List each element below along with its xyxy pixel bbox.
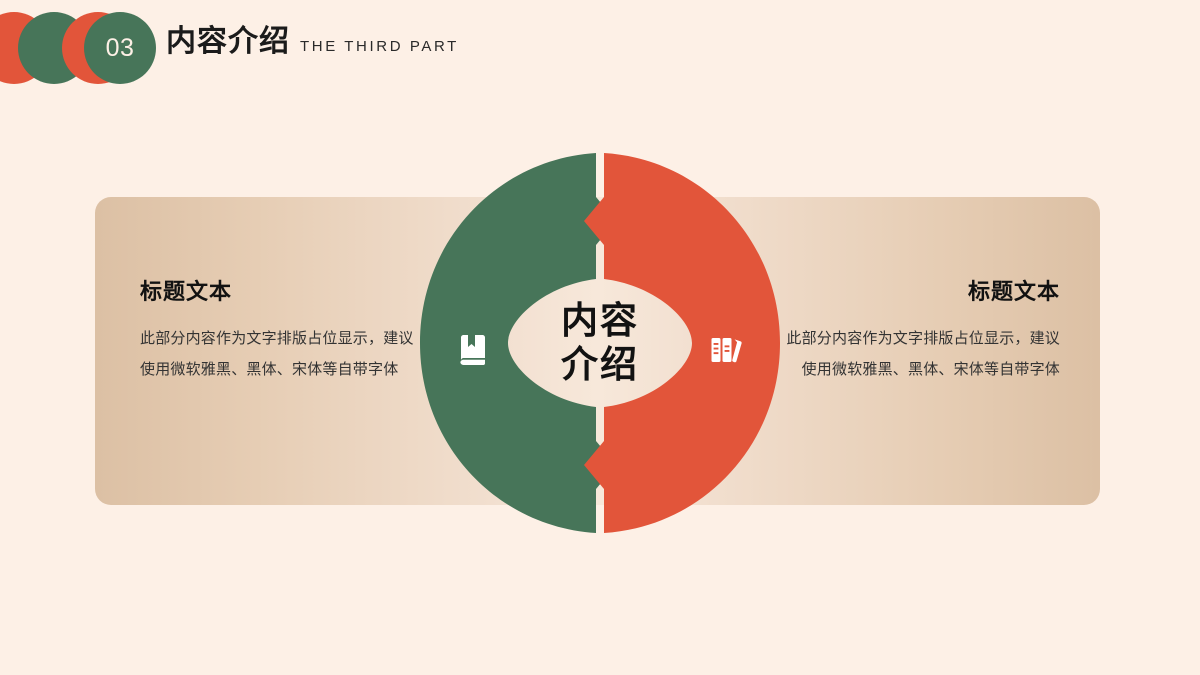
- book-stack-icon-svg: [705, 330, 745, 370]
- page-title: 内容介绍: [166, 27, 290, 57]
- block-title-right: 标题文本: [782, 281, 1060, 303]
- block-title-left: 标题文本: [140, 281, 418, 303]
- book-stack-icon: [702, 327, 748, 373]
- ring-right-orange[interactable]: [584, 153, 780, 533]
- text-block-right: 标题文本 此部分内容作为文字排版占位显示，建议使用微软雅黑、黑体、宋体等自带字体: [782, 281, 1060, 385]
- bookmark-book-icon-svg: [453, 330, 493, 370]
- header-title-group: 内容介绍 THE THIRD PART: [166, 27, 459, 57]
- block-body-left: 此部分内容作为文字排版占位显示，建议使用微软雅黑、黑体、宋体等自带字体: [140, 323, 418, 385]
- slide-header: 03 内容介绍 THE THIRD PART: [0, 0, 1200, 100]
- text-block-left: 标题文本 此部分内容作为文字排版占位显示，建议使用微软雅黑、黑体、宋体等自带字体: [140, 281, 418, 385]
- bookmark-book-icon: [450, 327, 496, 373]
- page-subtitle: THE THIRD PART: [300, 39, 459, 54]
- slide-canvas: 03 内容介绍 THE THIRD PART 标题文本 此部分内容作为文字排版占…: [0, 0, 1200, 675]
- section-number: 03: [106, 36, 135, 61]
- section-number-badge: 03: [84, 12, 156, 84]
- block-body-right: 此部分内容作为文字排版占位显示，建议使用微软雅黑、黑体、宋体等自带字体: [782, 323, 1060, 385]
